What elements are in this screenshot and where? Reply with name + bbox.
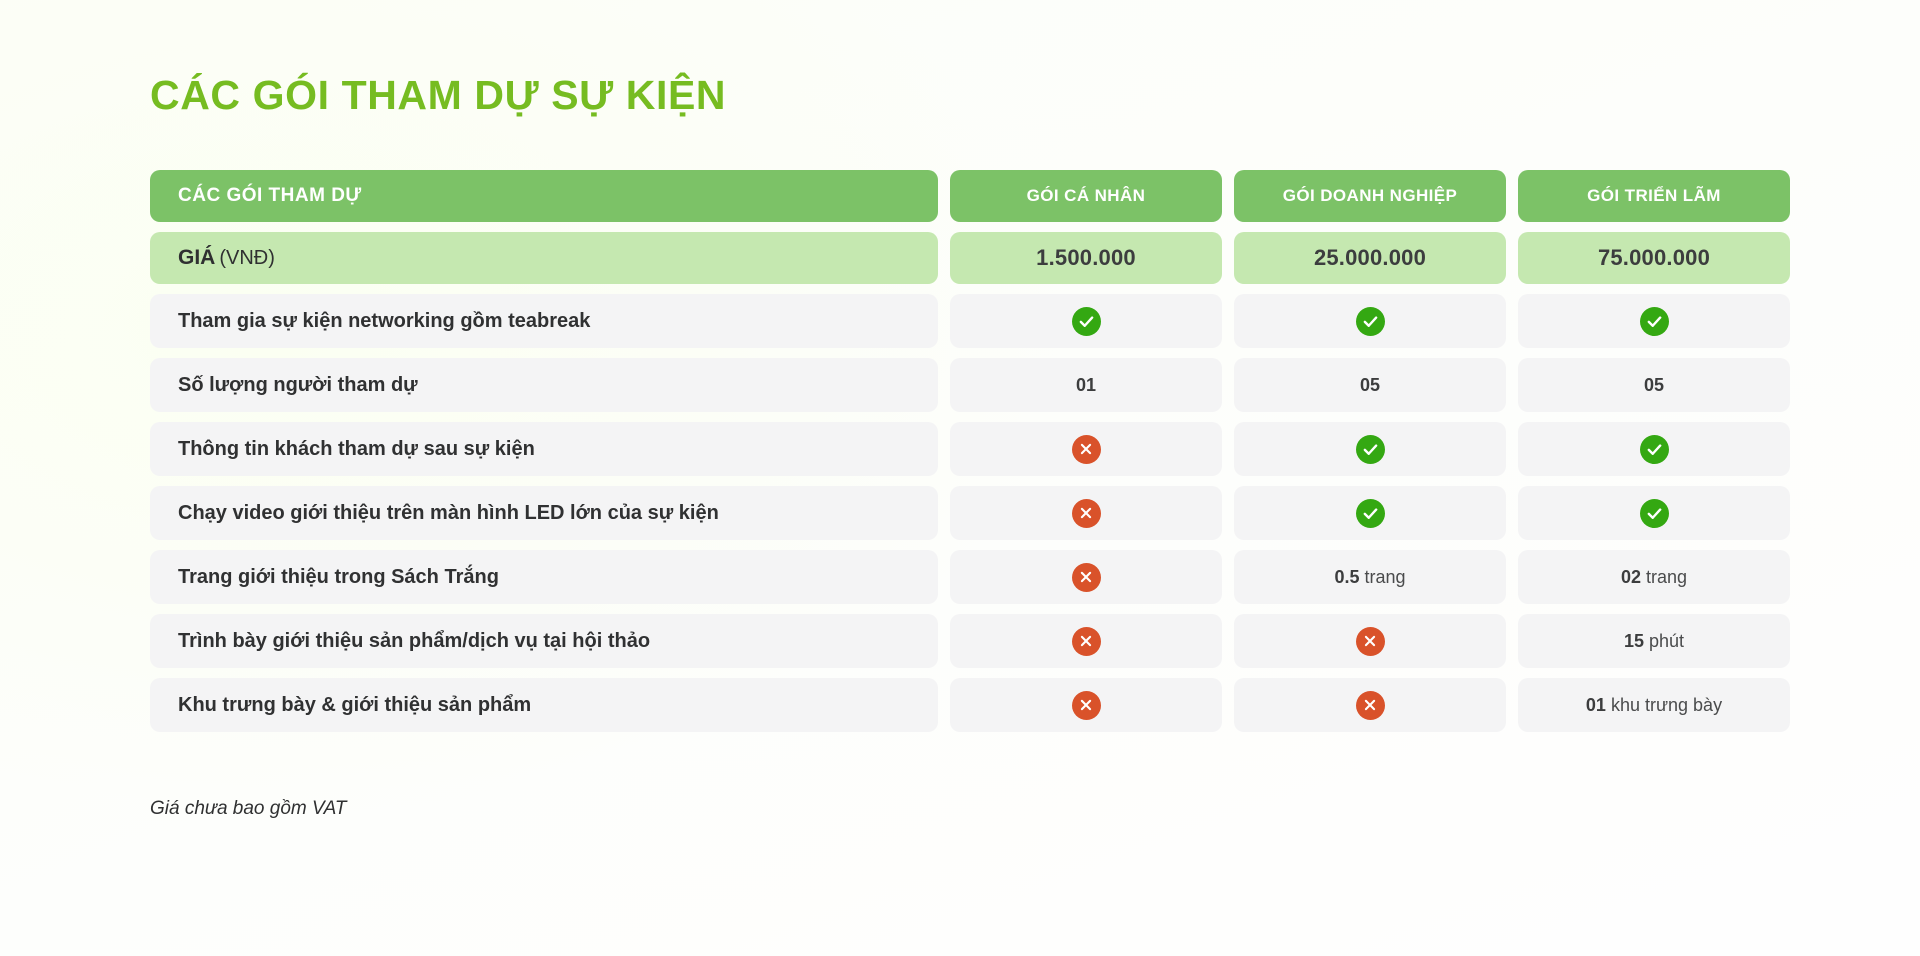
feature-label: Trình bày giới thiệu sản phẩm/dịch vụ tạ…: [150, 614, 938, 668]
feature-label: Thông tin khách tham dự sau sự kiện: [150, 422, 938, 476]
header-label-cell: CÁC GÓI THAM DỰ: [150, 170, 938, 222]
pricing-table: CÁC GÓI THAM DỰ GÓI CÁ NHÂN GÓI DOANH NG…: [150, 170, 1790, 742]
feature-value-cell: [1234, 678, 1506, 732]
page-title: CÁC GÓI THAM DỰ SỰ KIỆN: [150, 72, 726, 119]
table-row: Tham gia sự kiện networking gồm teabreak: [150, 294, 1790, 348]
feature-value-number: 15: [1624, 631, 1644, 652]
feature-value-cell: 0.5trang: [1234, 550, 1506, 604]
feature-value-cell: [950, 614, 1222, 668]
price-label-main: GIÁ: [178, 246, 215, 270]
feature-value-number: 01: [1076, 375, 1096, 396]
feature-rows: Tham gia sự kiện networking gồm teabreak…: [150, 294, 1790, 732]
check-circle-icon: [1640, 499, 1669, 528]
price-label-currency: (VNĐ): [219, 247, 275, 270]
header-column-personal: GÓI CÁ NHÂN: [950, 170, 1222, 222]
feature-value-number: 05: [1644, 375, 1664, 396]
feature-value-cell: 01khu trưng bày: [1518, 678, 1790, 732]
feature-value-cell: [950, 550, 1222, 604]
feature-label: Tham gia sự kiện networking gồm teabreak: [150, 294, 938, 348]
vat-footnote: Giá chưa bao gồm VAT: [150, 798, 347, 820]
feature-value-cell: [1518, 294, 1790, 348]
header-column-exhibition: GÓI TRIỂN LÃM: [1518, 170, 1790, 222]
feature-value-unit: phút: [1649, 631, 1684, 652]
header-column-enterprise: GÓI DOANH NGHIỆP: [1234, 170, 1506, 222]
feature-value-cell: 05: [1234, 358, 1506, 412]
feature-label: Khu trưng bày & giới thiệu sản phẩm: [150, 678, 938, 732]
feature-value-number: 01: [1586, 695, 1606, 716]
feature-value-number: 02: [1621, 567, 1641, 588]
feature-value-unit: khu trưng bày: [1611, 695, 1722, 716]
cross-circle-icon: [1356, 627, 1385, 656]
feature-value-unit: trang: [1646, 567, 1687, 588]
check-circle-icon: [1356, 499, 1385, 528]
feature-value-cell: [1234, 294, 1506, 348]
feature-value-cell: 05: [1518, 358, 1790, 412]
check-circle-icon: [1072, 307, 1101, 336]
cross-circle-icon: [1072, 627, 1101, 656]
cross-circle-icon: [1072, 435, 1101, 464]
cross-circle-icon: [1356, 691, 1385, 720]
feature-label: Số lượng người tham dự: [150, 358, 938, 412]
feature-label: Chạy video giới thiệu trên màn hình LED …: [150, 486, 938, 540]
cross-circle-icon: [1072, 691, 1101, 720]
cross-circle-icon: [1072, 499, 1101, 528]
feature-label: Trang giới thiệu trong Sách Trắng: [150, 550, 938, 604]
feature-value-cell: [950, 294, 1222, 348]
feature-value-cell: [1518, 486, 1790, 540]
feature-value-cell: [1518, 422, 1790, 476]
feature-value-cell: [950, 486, 1222, 540]
feature-value-number: 0.5: [1334, 567, 1359, 588]
table-row: Khu trưng bày & giới thiệu sản phẩm01khu…: [150, 678, 1790, 732]
pricing-page: CÁC GÓI THAM DỰ SỰ KIỆN CÁC GÓI THAM DỰ …: [0, 0, 1920, 956]
price-value-enterprise: 25.000.000: [1234, 232, 1506, 284]
table-row: Trang giới thiệu trong Sách Trắng0.5tran…: [150, 550, 1790, 604]
feature-value-cell: 01: [950, 358, 1222, 412]
feature-value-unit: trang: [1365, 567, 1406, 588]
table-header-row: CÁC GÓI THAM DỰ GÓI CÁ NHÂN GÓI DOANH NG…: [150, 170, 1790, 222]
table-row: Số lượng người tham dự010505: [150, 358, 1790, 412]
table-row: Thông tin khách tham dự sau sự kiện: [150, 422, 1790, 476]
feature-value-cell: 15phút: [1518, 614, 1790, 668]
cross-circle-icon: [1072, 563, 1101, 592]
price-label-cell: GIÁ (VNĐ): [150, 232, 938, 284]
check-circle-icon: [1356, 307, 1385, 336]
check-circle-icon: [1640, 307, 1669, 336]
check-circle-icon: [1640, 435, 1669, 464]
check-circle-icon: [1356, 435, 1385, 464]
table-row: Trình bày giới thiệu sản phẩm/dịch vụ tạ…: [150, 614, 1790, 668]
price-value-exhibition: 75.000.000: [1518, 232, 1790, 284]
price-value-personal: 1.500.000: [950, 232, 1222, 284]
feature-value-cell: [1234, 614, 1506, 668]
feature-value-number: 05: [1360, 375, 1380, 396]
feature-value-cell: [1234, 486, 1506, 540]
feature-value-cell: [950, 422, 1222, 476]
feature-value-cell: 02trang: [1518, 550, 1790, 604]
feature-value-cell: [1234, 422, 1506, 476]
feature-value-cell: [950, 678, 1222, 732]
price-row: GIÁ (VNĐ) 1.500.000 25.000.000 75.000.00…: [150, 232, 1790, 284]
table-row: Chạy video giới thiệu trên màn hình LED …: [150, 486, 1790, 540]
